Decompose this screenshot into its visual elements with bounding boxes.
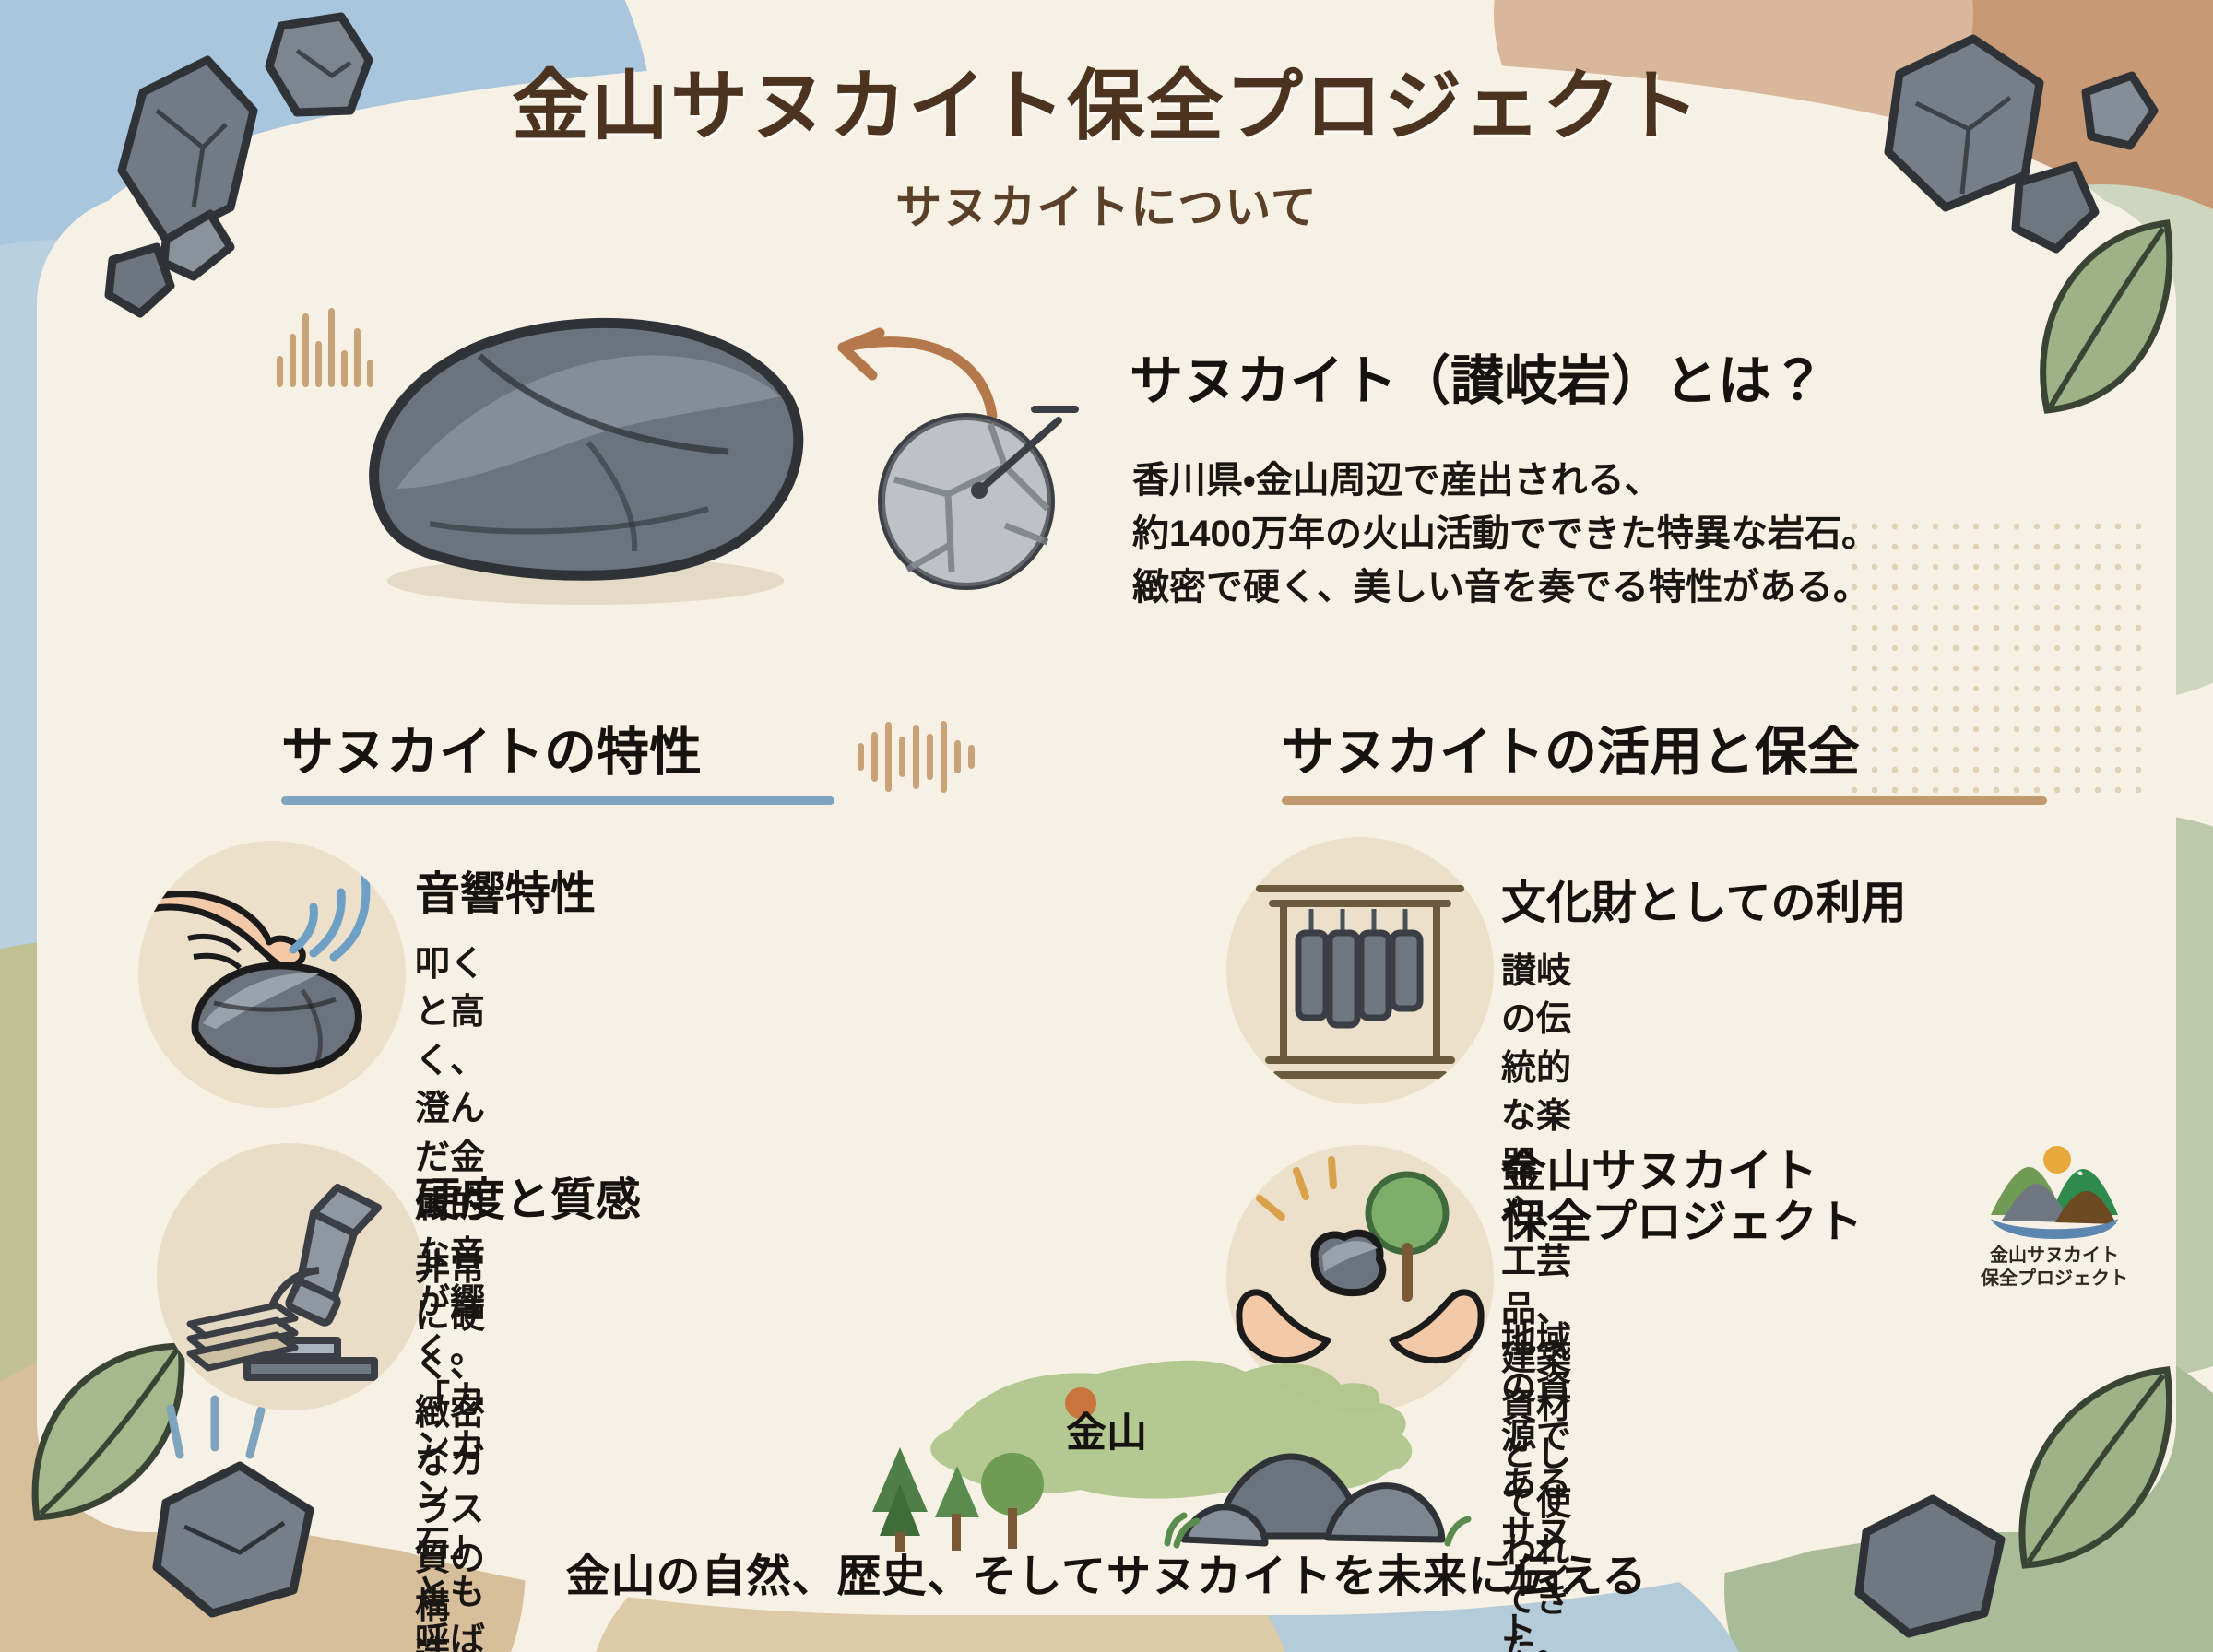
sound-wave-icon xyxy=(858,721,987,793)
item-heading-line: 保全プロジェクト xyxy=(1501,1198,2018,1248)
section-header-characteristics: サヌカイトの特性 xyxy=(281,710,834,805)
section-header-utilization: サヌカイトの活用と保全 xyxy=(1282,710,2047,805)
hand-tapping-rock-icon xyxy=(138,841,406,1108)
hero-body: 香川県・金山周辺で産出される、 約1400万年の火山活動でできた特異な岩石。 緻… xyxy=(1132,454,1878,614)
item-heading: 音響特性 xyxy=(415,857,596,923)
magnifier-icon xyxy=(867,387,1079,599)
mountain-sun-logo-icon xyxy=(1985,1141,2124,1241)
section-title: サヌカイトの特性 xyxy=(281,710,834,785)
page-subtitle: サヌカイトについて xyxy=(0,171,2213,237)
page-title: 金山サヌカイト保全プロジェクト xyxy=(0,44,2213,156)
poster-canvas: 金山サヌカイト保全プロジェクト サヌカイトについて xyxy=(0,0,2213,1652)
map-label: 金山 xyxy=(1066,1399,1147,1458)
section-title: サヌカイトの活用と保全 xyxy=(1282,710,2047,785)
sanukite-rock-illustration xyxy=(341,304,821,608)
hero-heading: サヌカイト（讃岐岩）とは？ xyxy=(1130,337,1825,415)
region-map-illustration xyxy=(811,1318,1494,1558)
section-underline xyxy=(281,796,834,805)
hero-body-line: 約1400万年の火山活動でできた特異な岩石。 xyxy=(1132,507,1878,560)
item-heading: 文化財としての利用 xyxy=(1501,867,1907,932)
hero-body-line: 香川県・金山周辺で産出される、 xyxy=(1132,454,1878,507)
logo-text-line: 金山サヌカイト xyxy=(1953,1245,2156,1268)
item-heading-line: 金山サヌカイト xyxy=(1501,1147,2018,1198)
item-body-line: 讃岐の伝統的な楽器や、工芸品、 xyxy=(1501,948,1571,1335)
item-heading: 硬度と質感 xyxy=(415,1163,641,1229)
project-logo: 金山サヌカイト 保全プロジェクト xyxy=(1953,1141,2156,1291)
stone-chime-instrument-icon xyxy=(1226,837,1494,1104)
microscope-icon xyxy=(157,1143,424,1410)
logo-text-line: 保全プロジェクト xyxy=(1953,1268,2156,1291)
item-heading: 金山サヌカイト 保全プロジェクト xyxy=(1501,1147,2018,1248)
logo-text: 金山サヌカイト 保全プロジェクト xyxy=(1953,1245,2156,1291)
footer-tagline: 金山の自然、歴史、そしてサヌカイトを未来に伝える xyxy=(0,1540,2213,1604)
hero-body-line: 緻密で硬く、美しい音を奏でる特性がある。 xyxy=(1132,560,1878,614)
section-underline xyxy=(1282,796,2047,805)
